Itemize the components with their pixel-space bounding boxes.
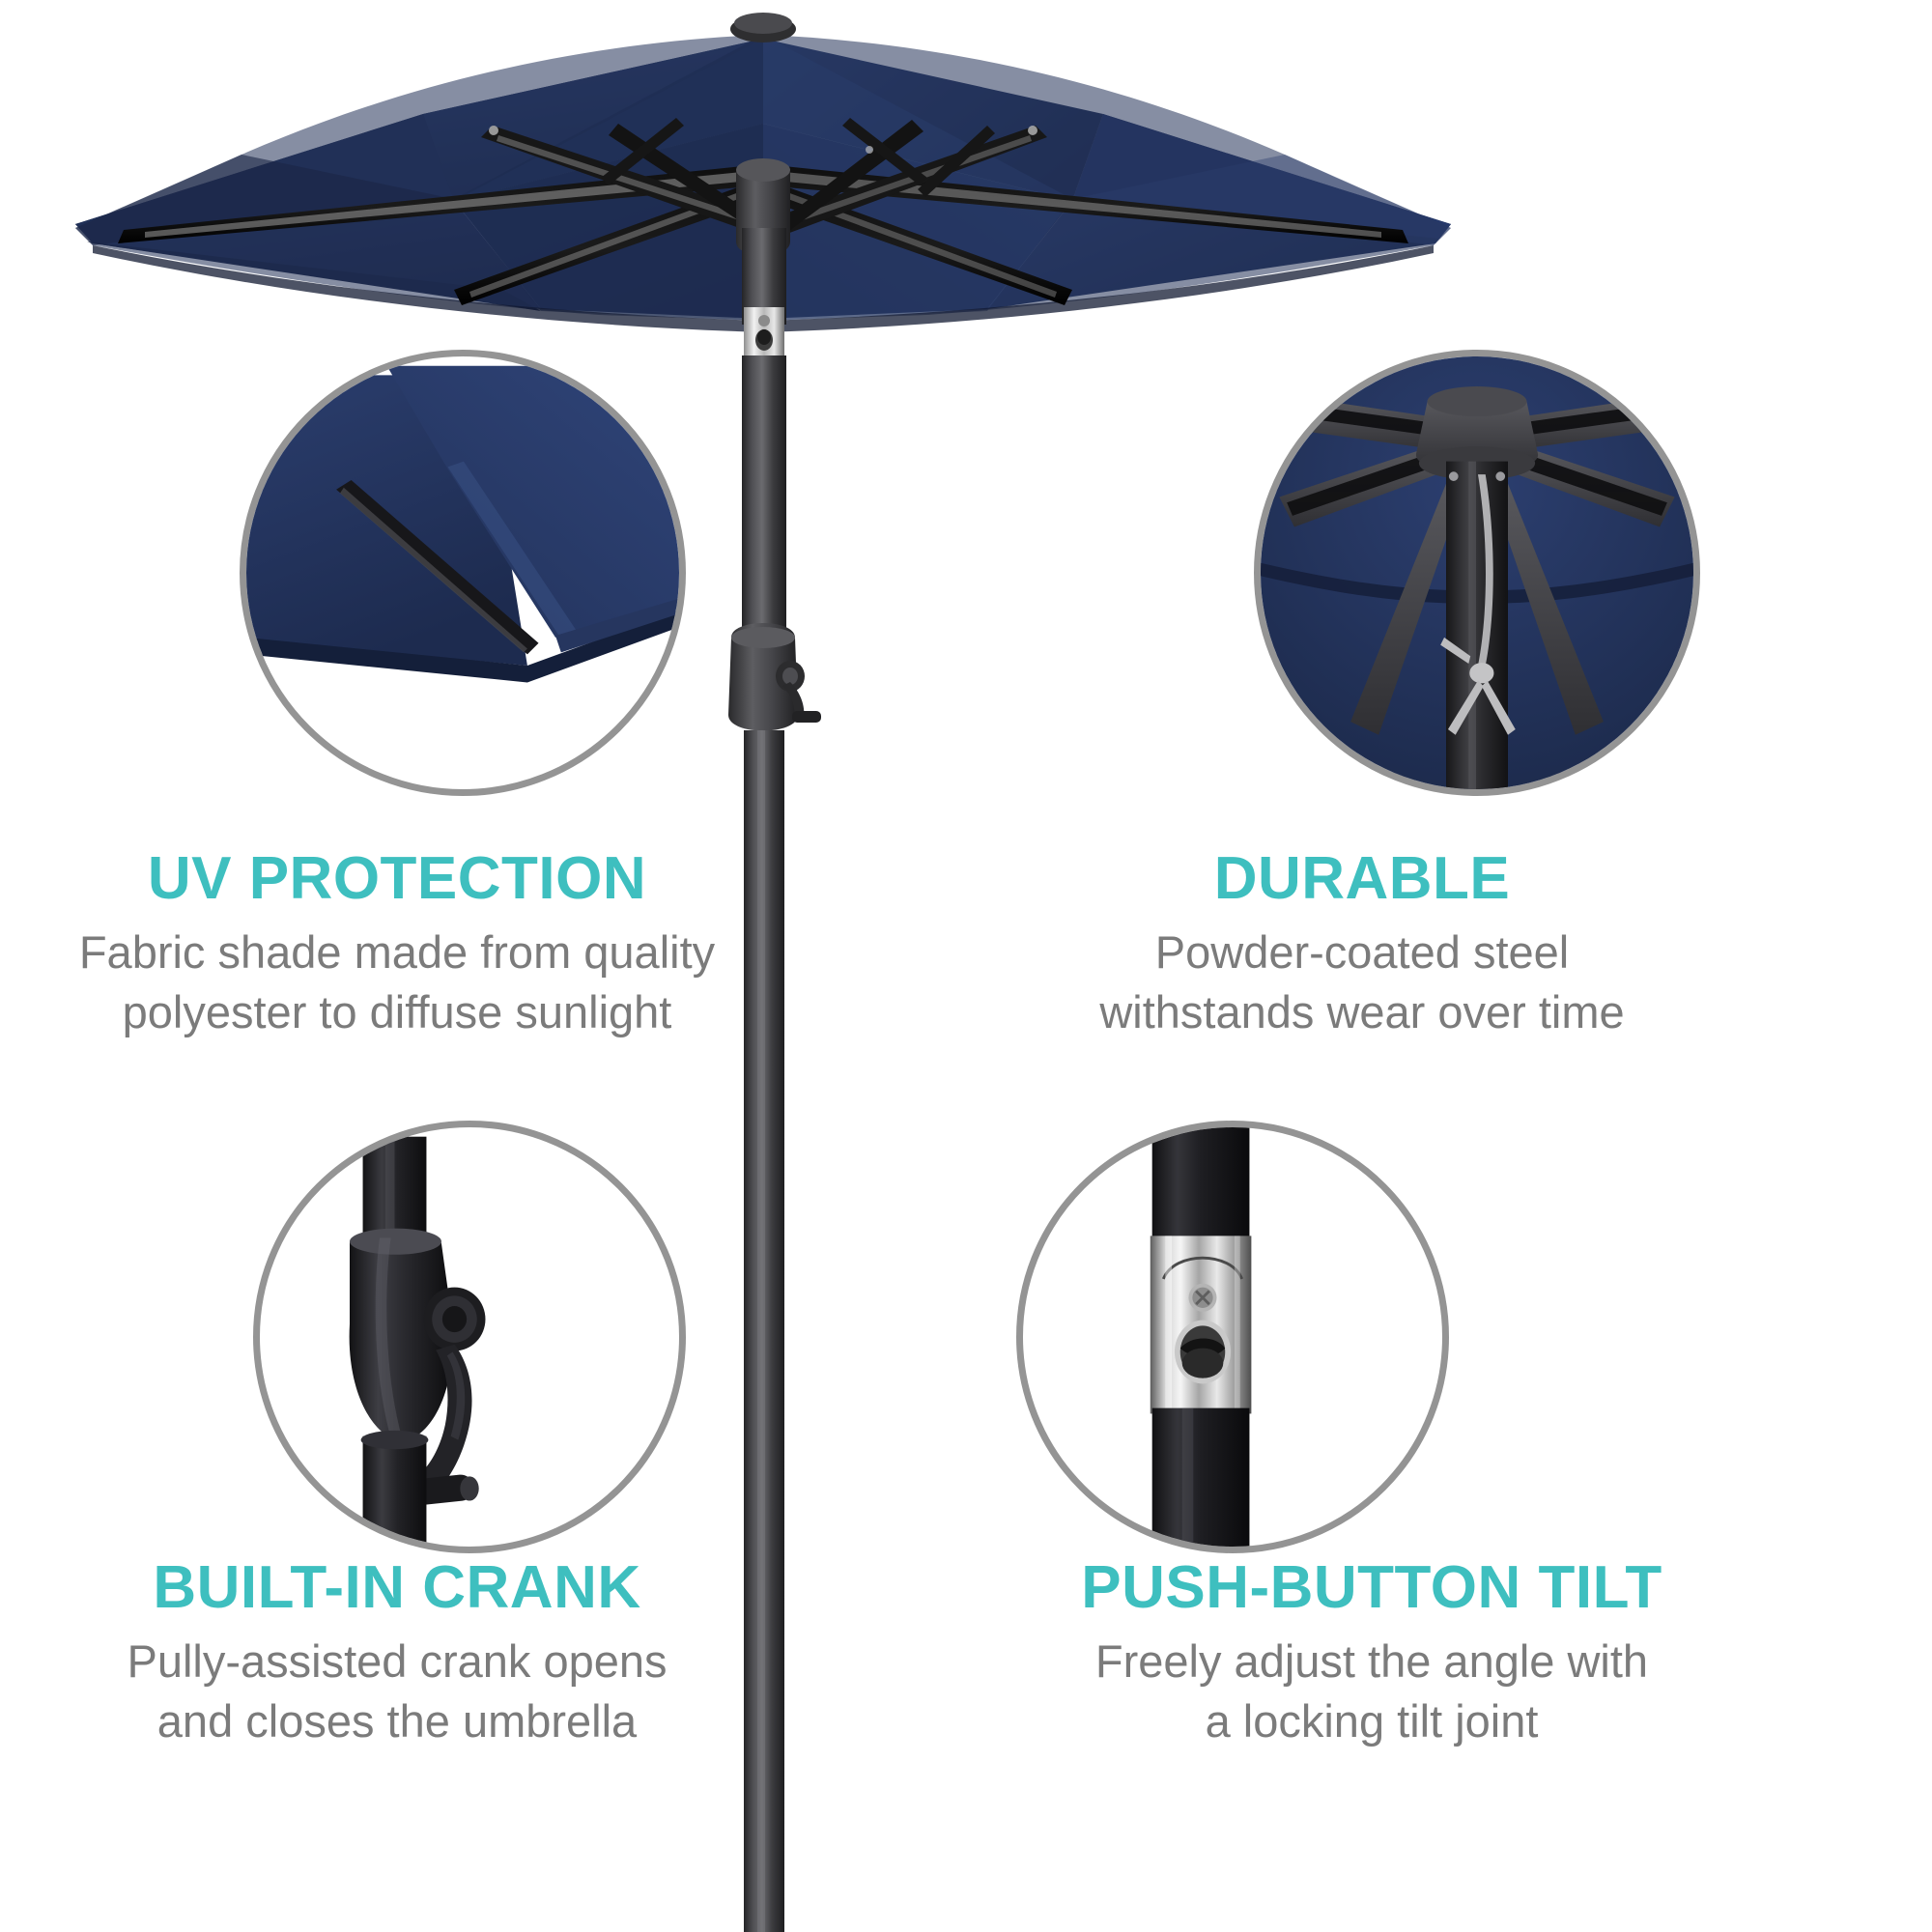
umbrella-hub-underside-closeup-icon	[1261, 356, 1693, 789]
detail-circle-durable	[1254, 350, 1700, 796]
detail-circle-push-button-tilt	[1016, 1121, 1449, 1553]
detail-circle-uv-protection	[240, 350, 686, 796]
tilt-joint-chrome-closeup-icon	[1023, 1127, 1442, 1547]
feature-title-built-in-crank: BUILT-IN CRANK	[15, 1557, 779, 1618]
feature-description-uv-protection: Fabric shade made from quality polyester…	[15, 923, 779, 1042]
feature-block-push-button-tilt: PUSH-BUTTON TILT Freely adjust the angle…	[831, 1557, 1913, 1751]
detail-circle-built-in-crank	[253, 1121, 686, 1553]
feature-description-push-button-tilt: Freely adjust the angle with a locking t…	[831, 1632, 1913, 1751]
feature-description-built-in-crank: Pully-assisted crank opens and closes th…	[15, 1632, 779, 1751]
feature-block-durable: DURABLE Powder-coated steel withstands w…	[840, 848, 1884, 1042]
canopy-hub	[730, 13, 796, 251]
feature-block-built-in-crank: BUILT-IN CRANK Pully-assisted crank open…	[15, 1557, 779, 1751]
feature-title-uv-protection: UV PROTECTION	[15, 848, 779, 909]
feature-title-durable: DURABLE	[840, 848, 1884, 909]
feature-description-durable: Powder-coated steel withstands wear over…	[840, 923, 1884, 1042]
umbrella-canopy	[75, 35, 1451, 332]
product-infographic: UV PROTECTION Fabric shade made from qua…	[0, 0, 1932, 1932]
canopy-fabric-edge-closeup-icon	[246, 356, 679, 789]
canopy-ribs	[118, 118, 1408, 305]
crank-handle-closeup-icon	[260, 1127, 679, 1547]
feature-block-uv-protection: UV PROTECTION Fabric shade made from qua…	[15, 848, 779, 1042]
feature-title-push-button-tilt: PUSH-BUTTON TILT	[831, 1557, 1913, 1618]
